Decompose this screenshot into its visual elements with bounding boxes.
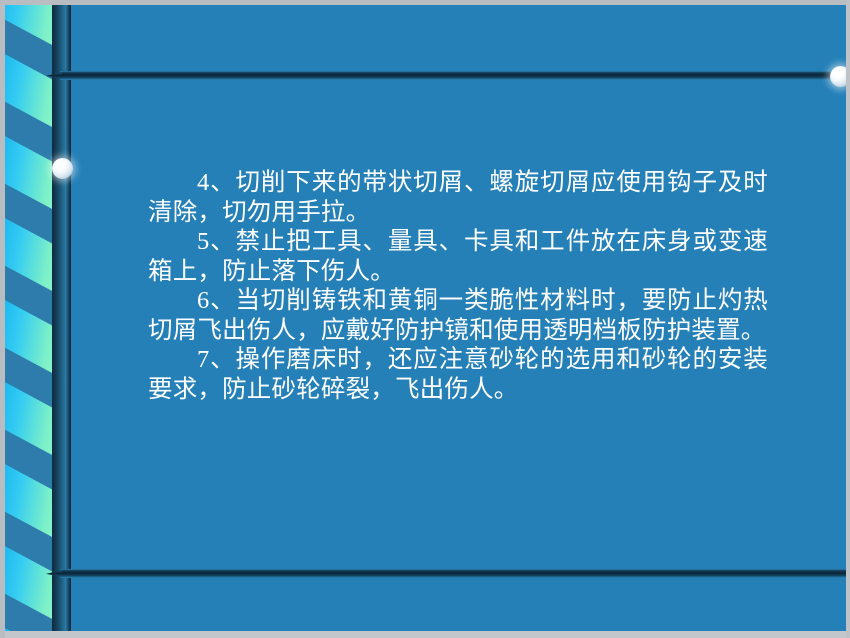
body-paragraph: 5、禁止把工具、量具、卡具和工件放在床身或变速箱上，防止落下伤人。 [148,227,768,286]
left-glow-sphere-icon [52,158,73,179]
frame-edge-left [0,0,5,638]
bottom-divider-rail [60,569,850,578]
frame-edge-bottom [0,631,850,638]
slide-canvas: 4、切削下来的带状切屑、螺旋切屑应使用钩子及时清除，切勿用手拉。 5、禁止把工具… [0,0,850,638]
frame-edge-right [846,0,850,638]
vertical-rod-decoration [52,0,71,638]
body-paragraph: 6、当切削铸铁和黄铜一类脆性材料时，要防止灼热切屑飞出伤人，应戴好防护镜和使用透… [148,286,768,345]
top-divider-rail [60,71,850,80]
frame-edge-top [0,0,850,5]
body-paragraph: 7、操作磨床时，还应注意砂轮的选用和砂轮的安装要求，防止砂轮碎裂，飞出伤人。 [148,345,768,404]
slide-body-text: 4、切削下来的带状切屑、螺旋切屑应使用钩子及时清除，切勿用手拉。 5、禁止把工具… [148,168,768,404]
body-paragraph: 4、切削下来的带状切屑、螺旋切屑应使用钩子及时清除，切勿用手拉。 [148,168,768,227]
